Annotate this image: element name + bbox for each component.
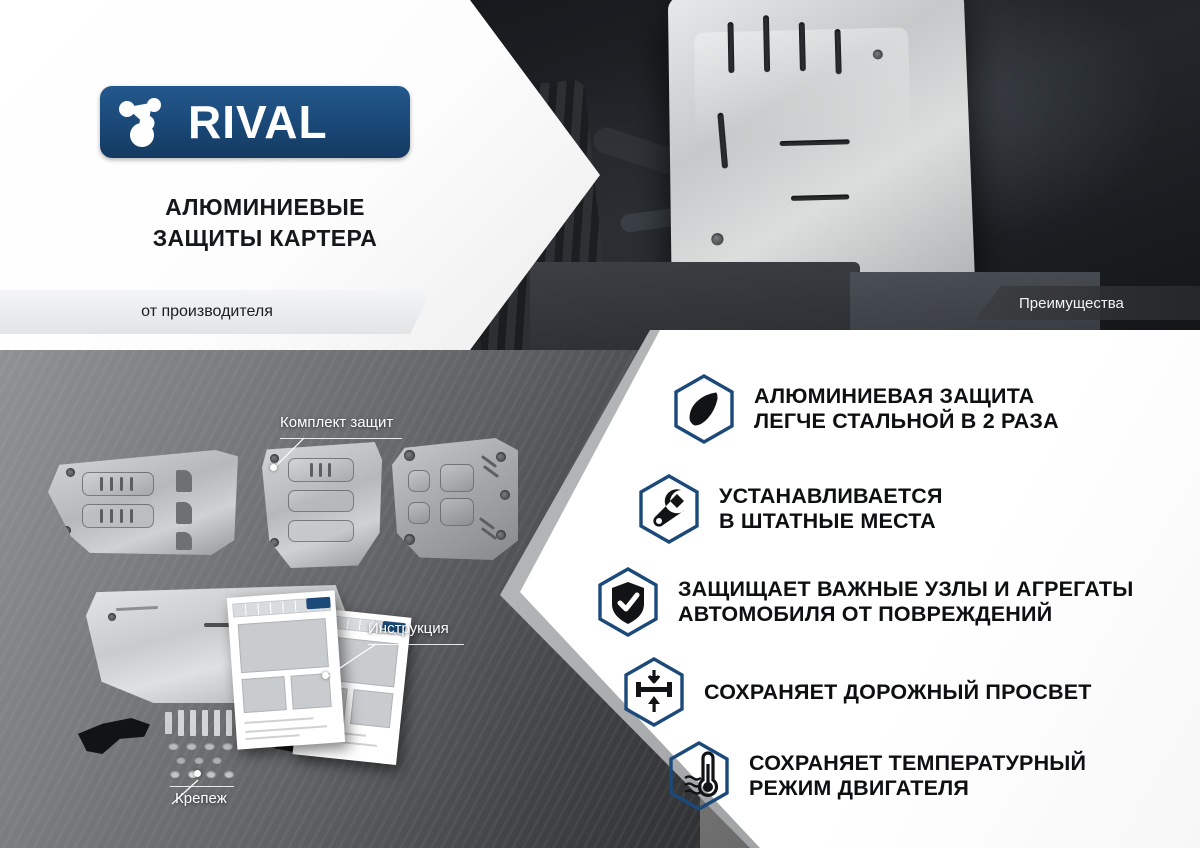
feature-item-protection: ЗАЩИЩАЕТ ВАЖНЫЕ УЗЛЫ И АГРЕГАТЫ АВТОМОБИ…: [596, 566, 1133, 638]
advantages-badge: Преимущества: [975, 286, 1200, 320]
feature-label-protection: ЗАЩИЩАЕТ ВАЖНЫЕ УЗЛЫ И АГРЕГАТЫ АВТОМОБИ…: [678, 577, 1133, 627]
callout-kit-leader: [258, 436, 308, 472]
feature-item-weight: АЛЮМИНИЕВАЯ ЗАЩИТА ЛЕГЧЕ СТАЛЬНОЙ В 2 РА…: [672, 373, 1059, 445]
shield-check-icon: [596, 566, 660, 638]
molecule-icon: [116, 95, 178, 149]
skid-plate-right: [392, 438, 518, 560]
rival-logo-text: RIVAL: [188, 99, 328, 145]
callout-hardware-leader: [170, 778, 202, 806]
callout-manual-rule: [368, 644, 464, 645]
subtitle-text: от производителя: [141, 303, 291, 321]
leaf-icon: [672, 373, 736, 445]
feature-item-clearance: СОХРАНЯЕТ ДОРОЖНЫЙ ПРОСВЕТ: [622, 656, 1092, 728]
callout-kit-label: Комплект защит: [280, 414, 393, 431]
feature-label-clearance: СОХРАНЯЕТ ДОРОЖНЫЙ ПРОСВЕТ: [704, 680, 1092, 705]
feature-label-weight: АЛЮМИНИЕВАЯ ЗАЩИТА ЛЕГЧЕ СТАЛЬНОЙ В 2 РА…: [754, 384, 1059, 434]
wrench-icon: [637, 473, 701, 545]
page-title-line2: ЗАЩИТЫ КАРТЕРА: [100, 223, 430, 254]
callout-hardware-dot: [194, 770, 201, 777]
promo-banner: Преимущества: [0, 0, 1200, 848]
subtitle-band: от производителя: [0, 290, 432, 334]
feature-item-temperature: СОХРАНЯЕТ ТЕМПЕРАТУРНЫЙ РЕЖИМ ДВИГАТЕЛЯ: [667, 740, 1086, 812]
callout-manual-label: Инструкция: [368, 620, 449, 637]
thermometer-icon: [667, 740, 731, 812]
ground-clearance-icon: [622, 656, 686, 728]
feature-label-temperature: СОХРАНЯЕТ ТЕМПЕРАТУРНЫЙ РЕЖИМ ДВИГАТЕЛЯ: [749, 751, 1086, 801]
feature-label-install: УСТАНАВЛИВАЕТСЯ В ШТАТНЫЕ МЕСТА: [719, 484, 943, 534]
advantages-badge-label: Преимущества: [1019, 295, 1124, 312]
callout-manual-dot: [322, 672, 329, 679]
page-title: АЛЮМИНИЕВЫЕ ЗАЩИТЫ КАРТЕРА: [100, 192, 430, 253]
page-title-line1: АЛЮМИНИЕВЫЕ: [100, 192, 430, 223]
rival-logo: RIVAL: [100, 86, 410, 158]
skid-plate-left: [48, 450, 238, 555]
feature-item-install: УСТАНАВЛИВАЕТСЯ В ШТАТНЫЕ МЕСТА: [637, 473, 943, 545]
callout-kit-dot: [270, 464, 277, 471]
